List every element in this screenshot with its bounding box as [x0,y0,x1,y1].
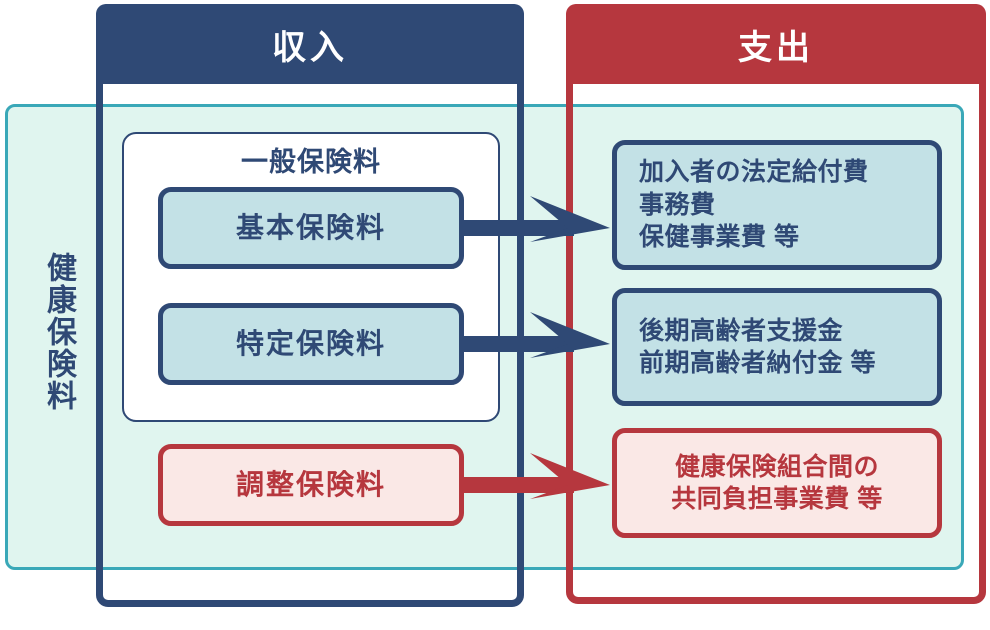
income-item-specific-premium[interactable]: 特定保険料 [158,303,464,385]
income-item-adjustment-premium[interactable]: 調整保険料 [158,444,464,526]
expense-item-elderly-support[interactable]: 後期高齢者支援金 前期高齢者納付金 等 [612,288,942,406]
expense-item-statutory-benefits[interactable]: 加入者の法定給付費 事務費 保健事業費 等 [612,140,942,270]
general-premium-label: 一般保険料 [122,140,500,179]
expense-item-joint-burden[interactable]: 健康保険組合間の 共同負担事業費 等 [612,428,942,538]
income-item-basic-premium[interactable]: 基本保険料 [158,187,464,269]
diagram-canvas: 健康保険料 収入 支出 一般保険料 基本保険料 特定保険料 調整保険料 加入者の… [0,0,990,630]
expense-panel-header: 支出 [566,4,986,84]
vertical-label-health-insurance-premium: 健康保険料 [30,252,74,412]
income-panel-header: 収入 [96,4,524,84]
